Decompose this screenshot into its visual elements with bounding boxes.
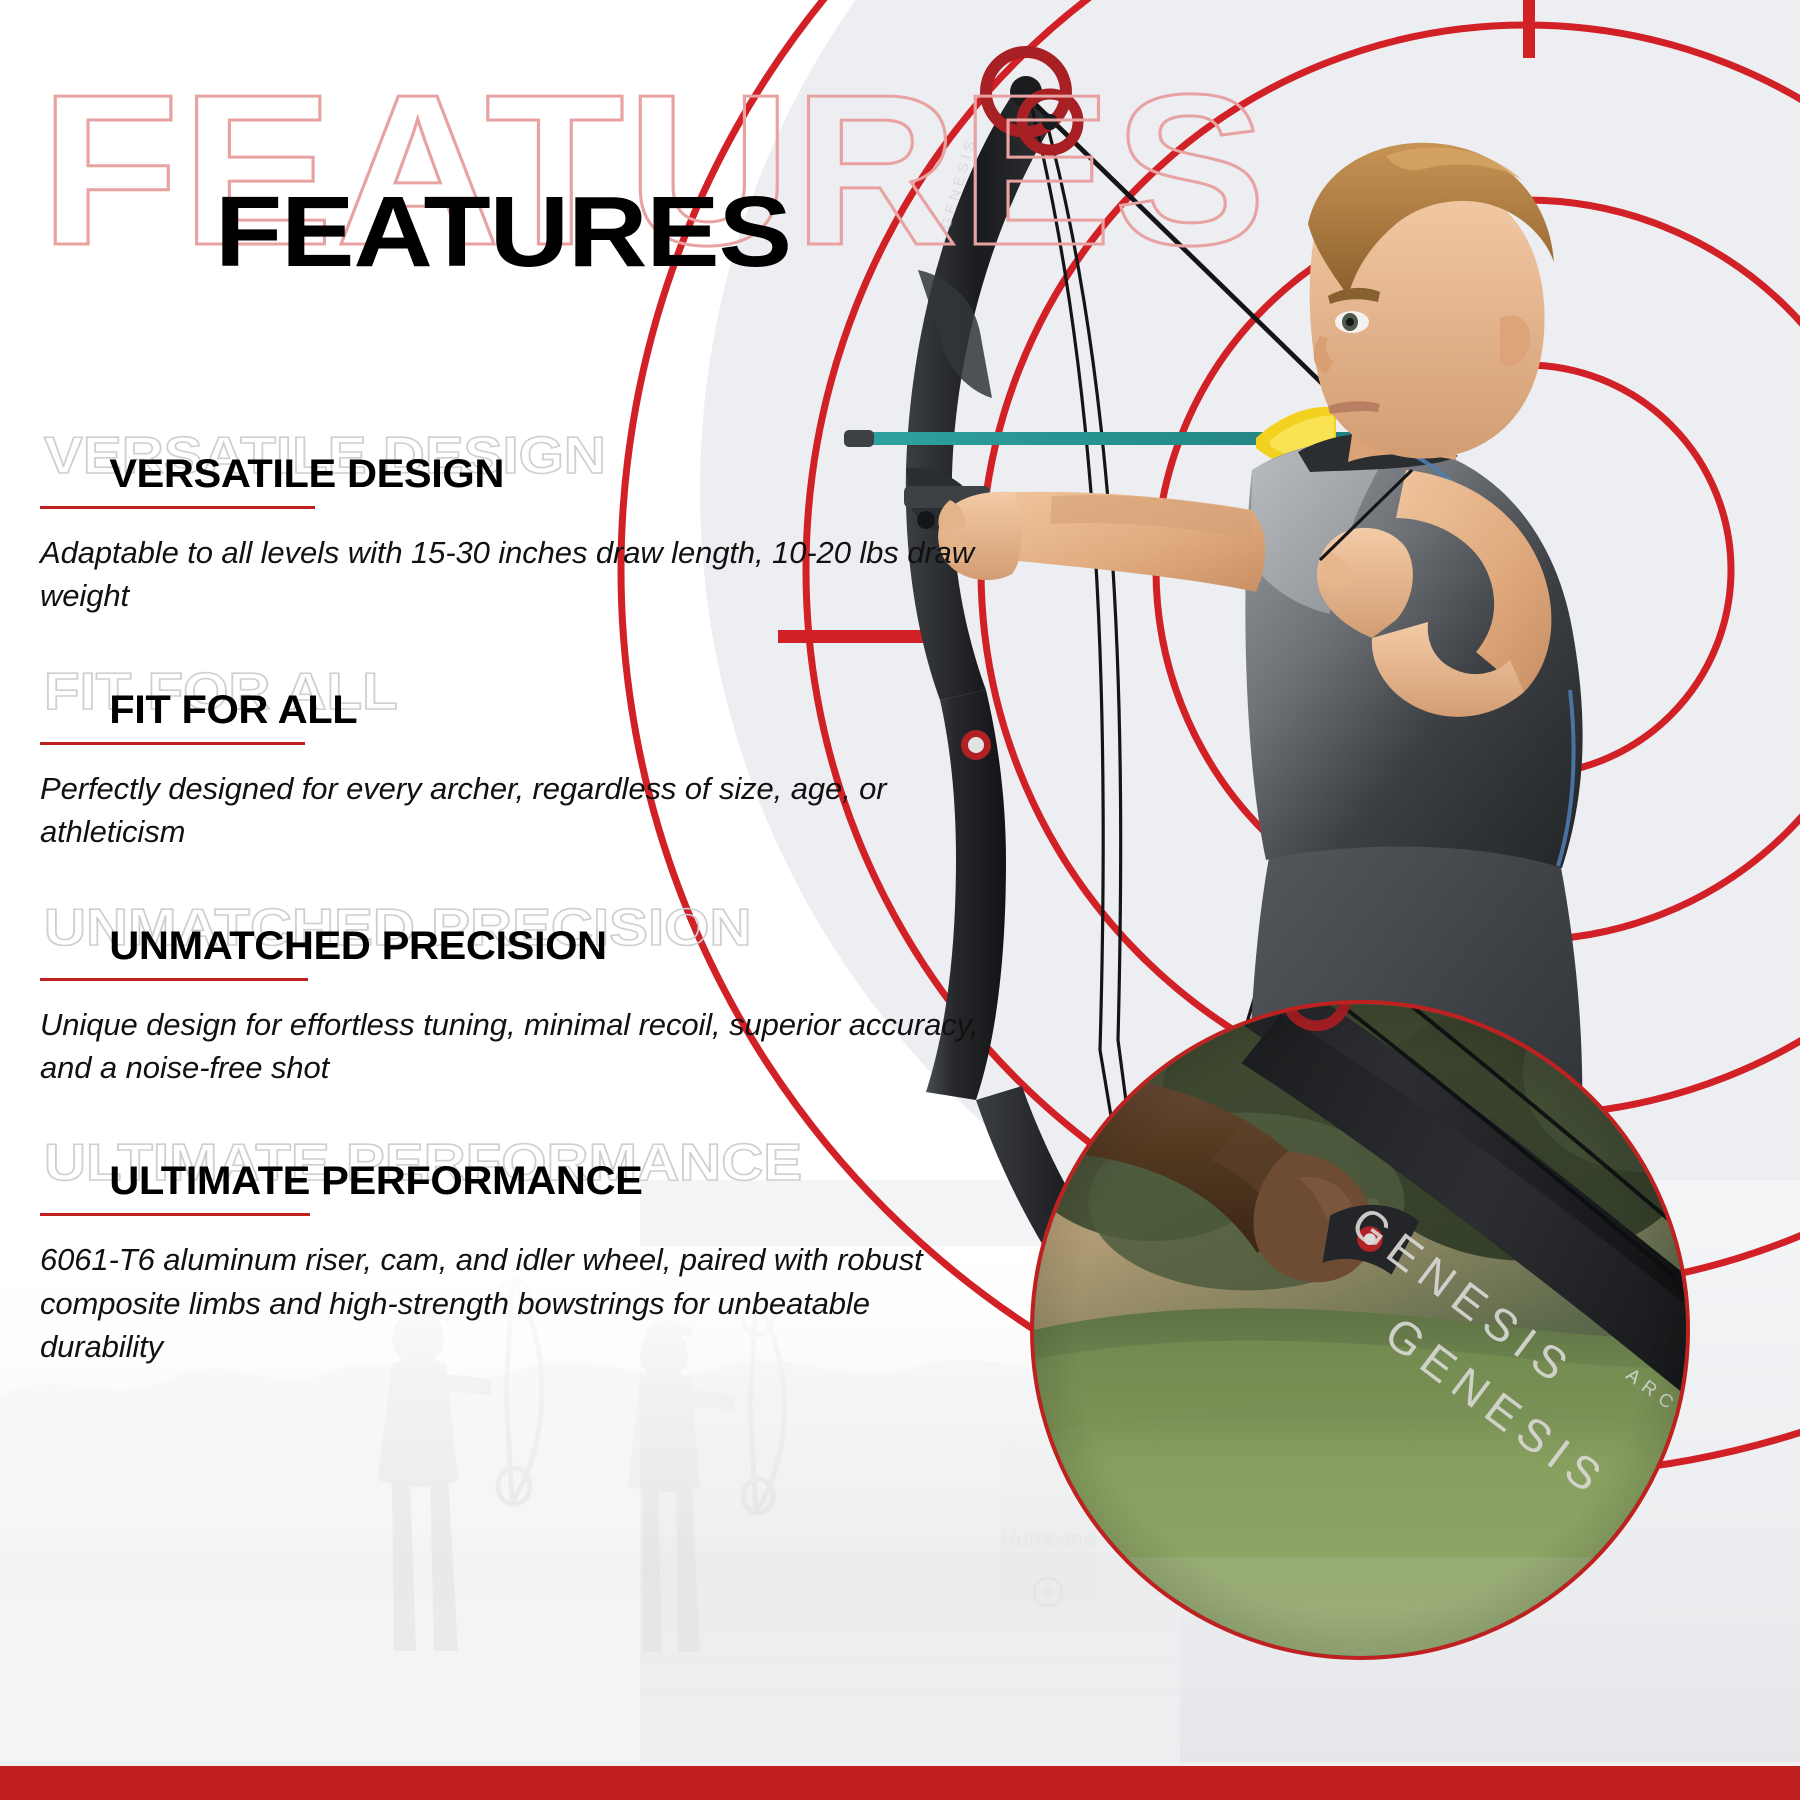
feature-underline [40,506,315,509]
crosshair-tick-top [1523,0,1535,58]
feature-item-versatile-design: VERSATILE DESIGN VERSATILE DESIGN Adapta… [0,430,1010,618]
feature-heading: FIT FOR ALL [0,666,1050,730]
feature-heading: ULTIMATE PERFORMANCE [0,1137,1050,1201]
inset-photo-bow-limbs: GENESIS ARCH GENESIS AR [1030,1000,1690,1660]
feature-body: Perfectly designed for every archer, reg… [40,767,1000,854]
feature-list: VERSATILE DESIGN VERSATILE DESIGN Adapta… [0,430,1010,1417]
feature-underline [40,1213,310,1216]
feature-item-unmatched-precision: UNMATCHED PRECISION UNMATCHED PRECISION … [0,902,1010,1090]
feature-item-fit-for-all: FIT FOR ALL FIT FOR ALL Perfectly design… [0,666,1010,854]
feature-underline [40,978,308,981]
feature-body: 6061-T6 aluminum riser, cam, and idler w… [40,1238,1000,1368]
header-block: FEATURES FEATURES [0,0,1240,330]
page-title: FEATURES [215,182,791,282]
feature-body: Adaptable to all levels with 15-30 inche… [40,531,1000,618]
infographic-canvas: Hurricane [0,0,1800,1800]
feature-body: Unique design for effortless tuning, min… [40,1003,1000,1090]
inset-photo-graphic: GENESIS ARCH GENESIS AR [1034,1004,1686,1656]
feature-underline [40,742,305,745]
feature-item-ultimate-performance: ULTIMATE PERFORMANCE ULTIMATE PERFORMANC… [0,1137,1010,1368]
footer-red-bar [0,1766,1800,1800]
feature-heading: UNMATCHED PRECISION [0,902,1050,966]
feature-heading: VERSATILE DESIGN [0,430,1050,494]
